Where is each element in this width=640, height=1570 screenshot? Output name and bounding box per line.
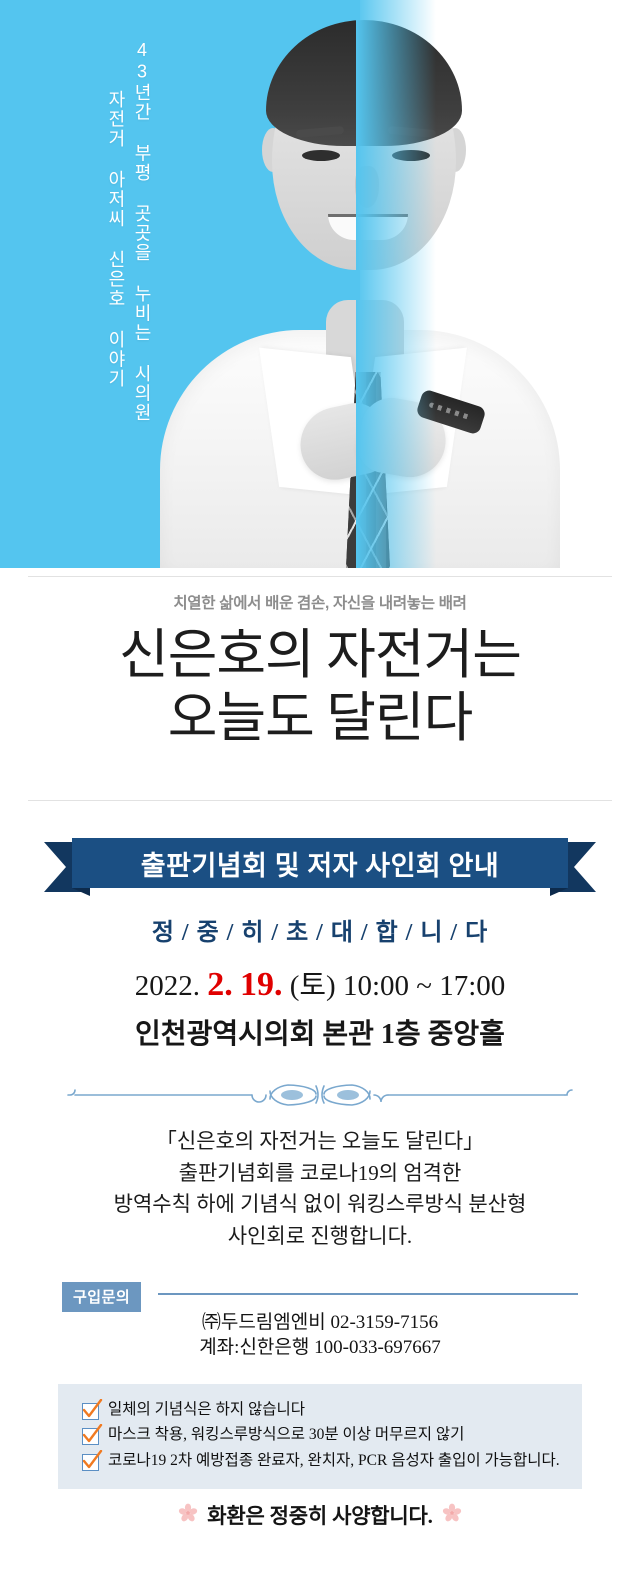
footer-text: 화환은 정중히 사양합니다. [207,1500,432,1530]
guideline-text: 코로나19 2차 예방접종 완료자, 완치자, PCR 음성자 출입이 가능합니… [108,1451,560,1472]
event-date-day: 19. [240,966,283,1003]
contact-company-phone[interactable]: ㈜두드림엠엔비 02-3159-7156 [0,1310,640,1335]
portrait-hair [266,20,462,146]
contact-bank-account[interactable]: 계좌:신한은행 100-033-697667 [0,1335,640,1360]
portrait-eye-left [302,150,340,161]
portrait-eye-right [392,150,430,161]
checkbox-checked-icon [82,1428,99,1445]
hero-vertical-headline: 43년간 부평 곳곳을 누비는 시의원 자전거 아저씨 신은호 이야기 [34,28,154,548]
list-item: 일체의 기념식은 하지 않습니다 [58,1397,582,1423]
page-title-line-2: 오늘도 달린다 [0,687,640,750]
hero-section: 43년간 부평 곳곳을 누비는 시의원 자전거 아저씨 신은호 이야기 [0,0,640,568]
description-line-2: 출판기념회를 코로나19의 엄격한 [0,1158,640,1190]
contact-badge: 구입문의 [62,1282,141,1312]
flower-icon-left [178,1503,198,1528]
footer-notice: 화환은 정중히 사양합니다. [0,1500,640,1530]
checkbox-checked-icon [82,1403,99,1420]
portrait-nose [355,166,379,208]
contact-info: ㈜두드림엠엔비 02-3159-7156 계좌:신한은행 100-033-697… [0,1310,640,1360]
flower-icon-right [442,1503,462,1528]
event-date-year: 2022. [135,970,200,1002]
hero-vertical-line-1: 43년간 부평 곳곳을 누비는 시의원 [130,40,154,423]
checkbox-checked-icon [82,1454,99,1471]
ornamental-divider-icon [64,1078,576,1112]
description-line-4: 사인회로 진행합니다. [0,1221,640,1253]
ribbon-body: 출판기념회 및 저자 사인회 안내 [72,838,568,888]
event-datetime: 2022. 2. 19. (토) 10:00 ~ 17:00 [0,962,640,1004]
event-description: 「신은호의 자전거는 오늘도 달린다」 출판기념회를 코로나19의 엄격한 방역… [0,1126,640,1252]
divider-rule-top [28,576,612,577]
event-date-month: 2. [207,966,233,1003]
divider-rule-middle [28,800,612,801]
page-title: 신은호의 자전거는 오늘도 달린다 [0,624,640,749]
guidelines-panel: 일체의 기념식은 하지 않습니다 마스크 착용, 워킹스루방식으로 30분 이상… [58,1384,582,1489]
page-title-line-1: 신은호의 자전거는 [119,625,521,685]
page-subtitle: 치열한 삶에서 배운 겸손, 자신을 내려놓는 배려 [0,591,640,613]
guideline-text: 마스크 착용, 워킹스루방식으로 30분 이상 머무르지 않기 [108,1425,464,1446]
portrait-photo [150,0,570,568]
ribbon-label: 출판기념회 및 저자 사인회 안내 [141,844,499,883]
list-item: 코로나19 2차 예방접종 완료자, 완치자, PCR 음성자 출입이 가능합니… [58,1449,582,1475]
guideline-text: 일체의 기념식은 하지 않습니다 [108,1400,305,1421]
contact-rule [158,1293,578,1295]
list-item: 마스크 착용, 워킹스루방식으로 30분 이상 머무르지 않기 [58,1423,582,1449]
description-line-1: 「신은호의 자전거는 오늘도 달린다」 [0,1126,640,1158]
hero-vertical-line-2: 자전거 아저씨 신은호 이야기 [104,90,128,389]
invitation-line: 정 / 중 / 히 / 초 / 대 / 합 / 니 / 다 [0,912,640,947]
event-time-range: (토) 10:00 ~ 17:00 [290,970,506,1002]
poster-root: 43년간 부평 곳곳을 누비는 시의원 자전거 아저씨 신은호 이야기 치열한 … [0,0,640,1570]
description-line-3: 방역수칙 하에 기념식 없이 워킹스루방식 분산형 [0,1189,640,1221]
event-venue: 인천광역시의회 본관 1층 중앙홀 [0,1012,640,1052]
event-ribbon-banner: 출판기념회 및 저자 사인회 안내 [44,838,596,896]
